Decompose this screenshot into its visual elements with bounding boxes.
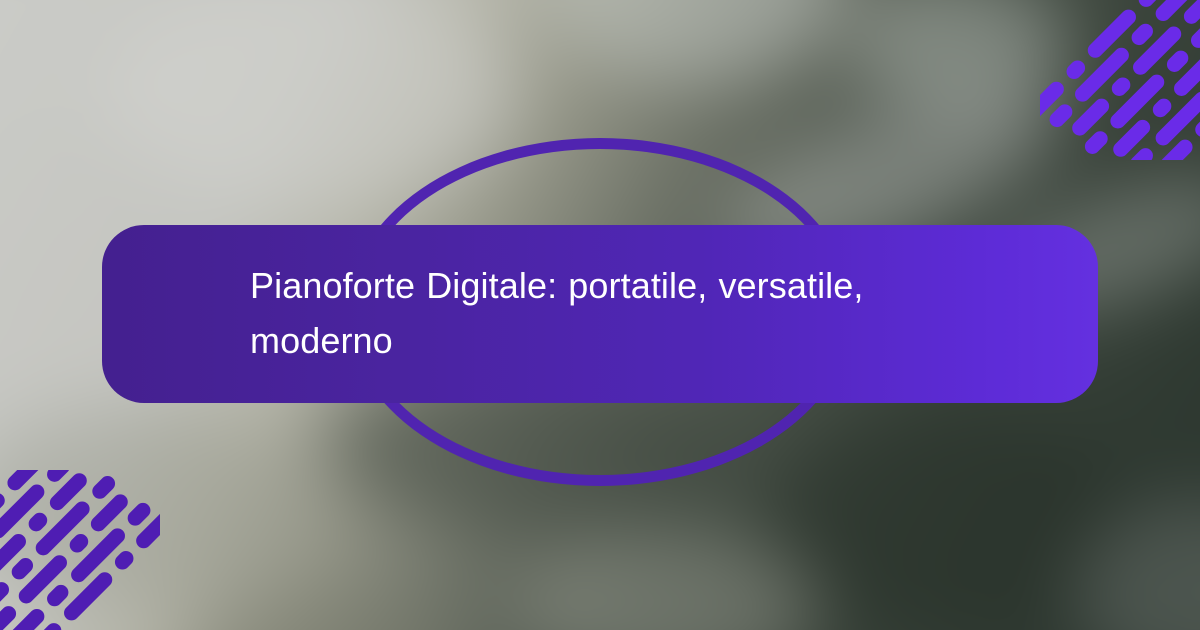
corner-decoration-top-right — [1040, 0, 1200, 160]
corner-decoration-bottom-left — [0, 470, 160, 630]
banner-title: Pianoforte Digitale: portatile, versatil… — [250, 259, 950, 368]
social-share-banner: Pianoforte Digitale: portatile, versatil… — [0, 0, 1200, 630]
title-card: Pianoforte Digitale: portatile, versatil… — [102, 225, 1098, 403]
